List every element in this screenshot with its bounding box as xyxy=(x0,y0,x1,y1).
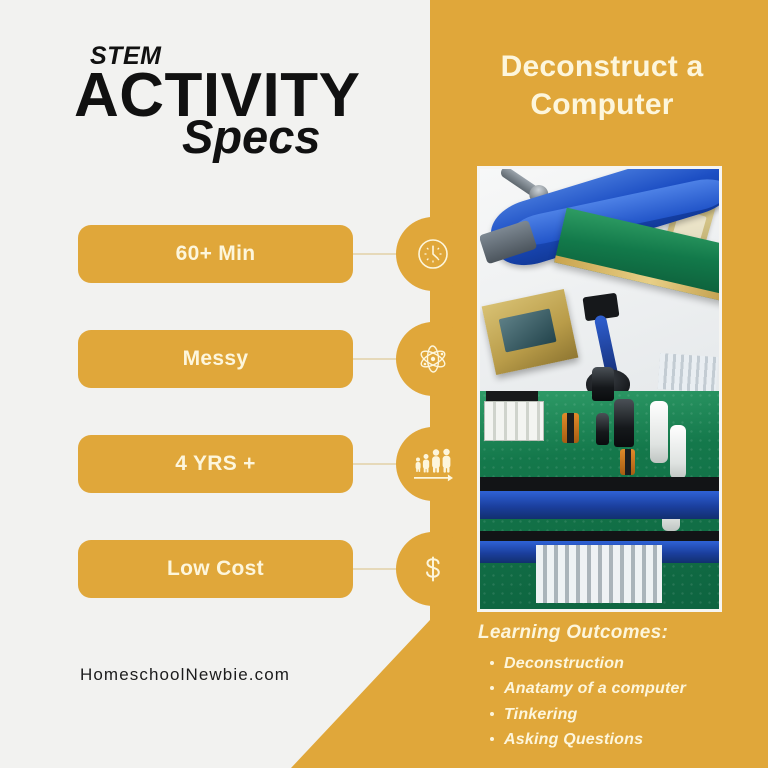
spec-row-mess-level: Messy xyxy=(0,330,470,388)
spec-pill-duration[interactable]: 60+ Min xyxy=(78,225,353,283)
photo-slot-bracket xyxy=(480,477,719,491)
spec-icon-circle-age xyxy=(396,427,470,501)
age-groups-icon xyxy=(411,444,455,484)
photo-canvas xyxy=(480,169,719,609)
computer-components-photo xyxy=(477,166,722,612)
spec-icon-circle-mess-level xyxy=(396,322,470,396)
spec-row-cost: Low Cost xyxy=(0,540,470,598)
spec-label-duration: 60+ Min xyxy=(176,242,256,266)
photo-atx-connector xyxy=(484,401,544,441)
photo-capacitor xyxy=(596,413,609,445)
spec-icon-circle-cost xyxy=(396,532,470,606)
learning-outcomes: Learning Outcomes: Deconstruction Anatam… xyxy=(478,622,758,752)
list-item: Asking Questions xyxy=(504,727,758,752)
site-url[interactable]: HomeschoolNewbie.com xyxy=(80,665,290,685)
spec-row-age: 4 YRS + xyxy=(0,435,470,493)
photo-white-capacitor xyxy=(650,401,668,463)
spec-icon-circle-duration xyxy=(396,217,470,291)
photo-inductor xyxy=(562,413,579,443)
list-item: Tinkering xyxy=(504,702,758,727)
learning-outcomes-list: Deconstruction Anatamy of a computer Tin… xyxy=(478,651,758,752)
panel-title: Deconstruct a Computer xyxy=(452,48,752,125)
photo-heatsink xyxy=(536,545,662,603)
photo-capacitor xyxy=(614,399,634,447)
spec-pill-age[interactable]: 4 YRS + xyxy=(78,435,353,493)
photo-slot-bracket xyxy=(480,531,719,541)
photo-pin-header xyxy=(658,353,718,393)
photo-ram-slot xyxy=(480,491,719,519)
spec-label-age: 4 YRS + xyxy=(175,452,256,476)
spec-label-mess-level: Messy xyxy=(183,347,249,371)
photo-white-capacitor xyxy=(670,425,686,479)
list-item: Deconstruction xyxy=(504,651,758,676)
learning-outcomes-title: Learning Outcomes: xyxy=(478,622,758,644)
photo-motherboard xyxy=(480,391,719,609)
spec-pill-mess-level[interactable]: Messy xyxy=(78,330,353,388)
page-subtitle: Specs xyxy=(182,113,320,160)
list-item: Anatamy of a computer xyxy=(504,676,758,701)
photo-capacitor xyxy=(592,367,614,401)
photo-inductor xyxy=(620,449,635,475)
spec-row-duration: 60+ Min xyxy=(0,225,470,283)
spec-pill-cost[interactable]: Low Cost xyxy=(78,540,353,598)
clock-icon xyxy=(413,234,453,274)
spec-label-cost: Low Cost xyxy=(167,557,264,581)
atom-icon xyxy=(413,339,453,379)
dollar-icon xyxy=(413,549,453,589)
infographic-poster: STEM ACTIVITY Specs Deconstruct a Comput… xyxy=(0,0,768,768)
